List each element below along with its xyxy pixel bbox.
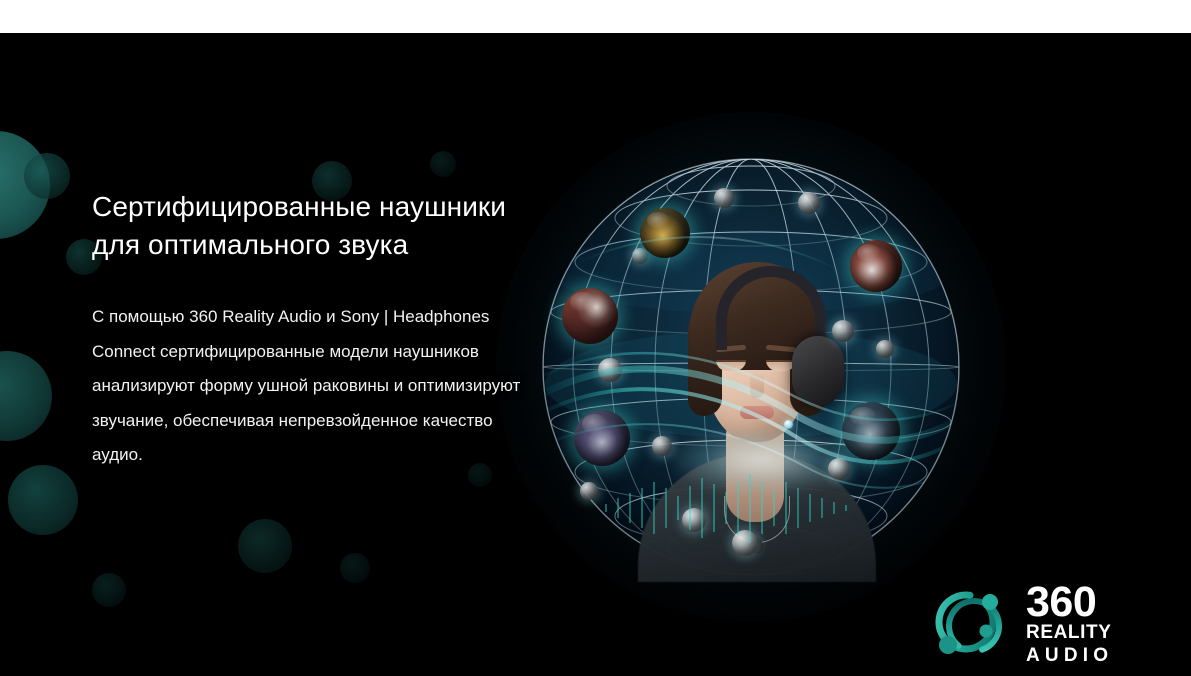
logo-line-360: 360 xyxy=(1026,582,1113,622)
bokeh-circle xyxy=(196,593,242,639)
bokeh-circle xyxy=(24,153,70,199)
logo-line-reality: REALITY xyxy=(1026,622,1113,644)
top-white-band xyxy=(0,0,1191,33)
bokeh-circle xyxy=(92,573,126,607)
satellite-sphere xyxy=(732,530,758,556)
bokeh-circle xyxy=(0,351,52,441)
banner-360-reality-audio: Сертифицированные наушники для оптимальн… xyxy=(0,0,1191,676)
bokeh-circle xyxy=(272,129,334,191)
satellite-sphere xyxy=(652,436,672,456)
logo-wordmark: 360 REALITY AUDIO xyxy=(1026,582,1113,667)
body-paragraph: С помощью 360 Reality Audio и Sony | Hea… xyxy=(92,300,522,473)
hero-globe-visual xyxy=(536,152,966,582)
logo-line-audio: AUDIO xyxy=(1026,644,1113,667)
bokeh-circle xyxy=(340,553,370,583)
360-reality-audio-orbit-mark xyxy=(928,582,1012,666)
orb-saxophone xyxy=(640,208,690,258)
satellite-sphere xyxy=(828,458,850,480)
bokeh-circle xyxy=(8,465,78,535)
logo-360-reality-audio: 360 REALITY AUDIO xyxy=(928,574,1128,674)
orb-mixing-console xyxy=(574,410,630,466)
satellite-sphere xyxy=(798,192,820,214)
bokeh-circle xyxy=(238,519,292,573)
bokeh-circle xyxy=(430,151,456,177)
orb-piano xyxy=(850,240,902,292)
satellite-sphere xyxy=(632,248,648,264)
satellite-sphere xyxy=(598,358,622,382)
bokeh-circle xyxy=(0,131,50,239)
satellite-sphere xyxy=(832,320,854,342)
satellite-sphere xyxy=(580,482,598,500)
copy-block: Сертифицированные наушники для оптимальн… xyxy=(92,188,522,473)
headline: Сертифицированные наушники для оптимальн… xyxy=(92,188,522,264)
satellite-sphere xyxy=(682,508,706,532)
satellite-sphere xyxy=(876,340,894,358)
orb-studio xyxy=(842,402,900,460)
banner-stage: Сертифицированные наушники для оптимальн… xyxy=(0,33,1191,676)
satellite-sphere xyxy=(714,188,734,208)
orb-singer xyxy=(562,288,618,344)
